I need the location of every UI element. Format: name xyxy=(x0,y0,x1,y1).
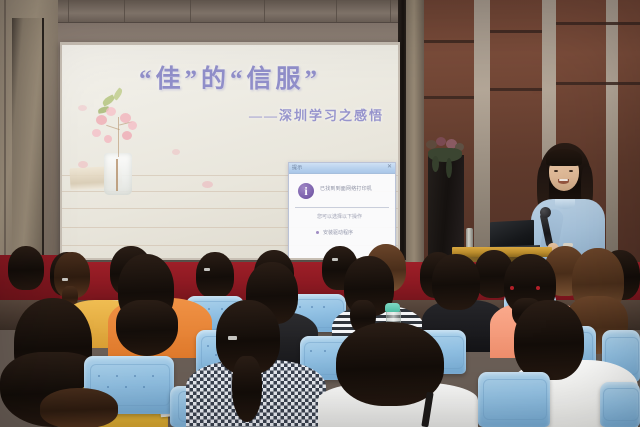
dialog-sub-message: 您可以选择以下操作 xyxy=(317,213,391,220)
dialog-caption: 提示 xyxy=(292,164,303,171)
ceiling-band xyxy=(50,0,410,23)
audience-chair[interactable] xyxy=(600,382,640,427)
flower-arrangement xyxy=(424,136,470,164)
lecture-hall-photo: “佳”的“信服” ——深圳学习之感悟 提示 ✕ i 已找到到面网络打印机 您可以… xyxy=(0,0,640,427)
dialog-divider xyxy=(295,207,389,208)
slide-dialog[interactable]: 提示 ✕ i 已找到到面网络打印机 您可以选择以下操作 安装驱动程序 xyxy=(288,162,396,258)
dialog-titlebar: 提示 ✕ xyxy=(289,163,395,174)
left-doorway xyxy=(12,18,44,268)
wall-rail xyxy=(422,96,474,99)
info-icon: i xyxy=(298,183,314,199)
slide-vase xyxy=(104,153,132,195)
wall-right-edge xyxy=(406,0,424,300)
dialog-bullet-option[interactable]: 安装驱动程序 xyxy=(323,229,353,236)
wall-rail xyxy=(556,22,640,25)
wall-rail xyxy=(422,40,474,43)
slide-subtitle: ——深圳学习之感悟 xyxy=(62,105,384,124)
slide-title: “佳”的“信服” xyxy=(62,59,398,95)
close-icon[interactable]: ✕ xyxy=(387,164,392,171)
attendee-head xyxy=(8,246,44,290)
presenter-mouth xyxy=(558,179,569,184)
dialog-message: 已找到到面网络打印机 xyxy=(320,186,390,193)
attendee-ponytail xyxy=(232,356,262,422)
attendee-head xyxy=(196,252,234,298)
wall-rail xyxy=(556,82,640,85)
attendee-head xyxy=(40,388,118,427)
attendee-head xyxy=(432,254,480,310)
audience-chair[interactable] xyxy=(478,372,550,427)
projector-screen: “佳”的“信服” ——深圳学习之感悟 提示 ✕ i 已找到到面网络打印机 您可以… xyxy=(62,45,398,258)
wall-rail xyxy=(490,30,542,33)
presenter-fringe xyxy=(546,149,582,166)
attendee-head xyxy=(514,300,584,380)
wall-rail xyxy=(490,88,542,91)
presenter-collar xyxy=(555,199,575,209)
attendee-hair-long xyxy=(116,300,178,356)
water-bottle-cap xyxy=(385,303,400,312)
